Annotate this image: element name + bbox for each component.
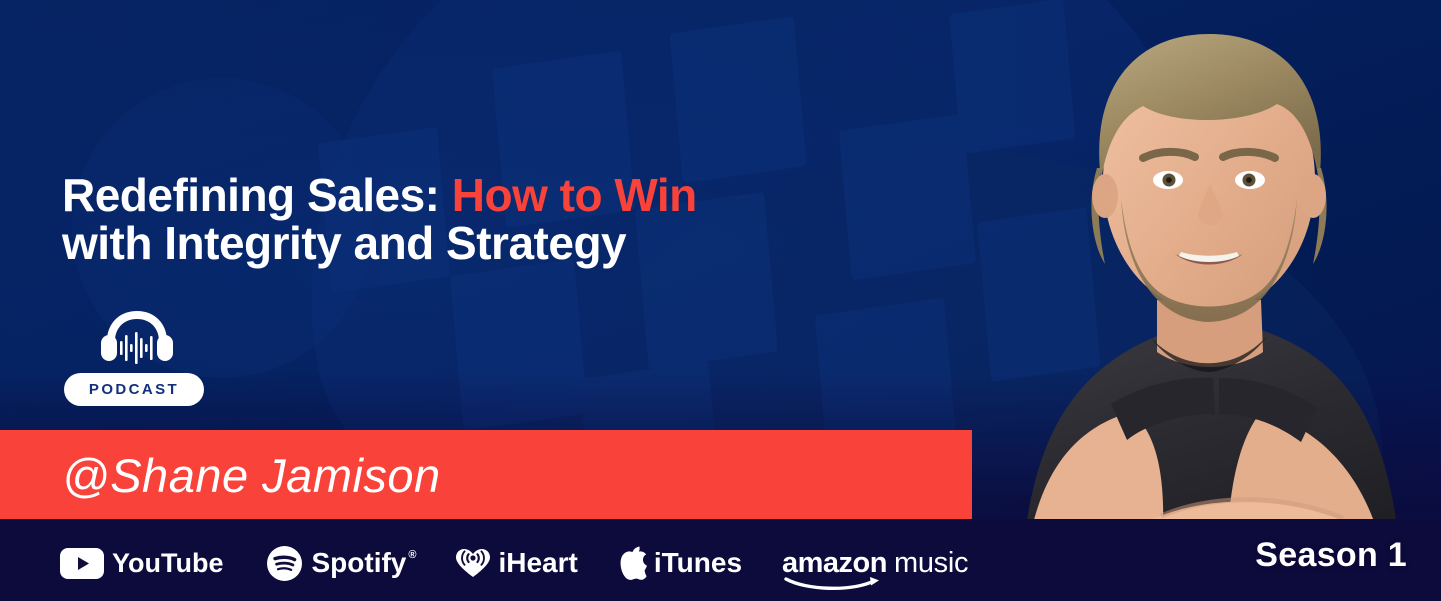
platform-amazon-music[interactable]: amazon music xyxy=(782,540,968,586)
title-line-1: Redefining Sales: How to Win xyxy=(62,172,697,220)
host-photo xyxy=(961,0,1441,601)
platform-iheart[interactable]: iHeart xyxy=(454,540,577,586)
host-handle: @Shane Jamison xyxy=(62,448,441,503)
apple-icon xyxy=(620,546,649,580)
amazon-music-label: music xyxy=(894,547,968,580)
title-line-1-highlight: How to Win xyxy=(452,169,697,221)
podcast-badge: PODCAST xyxy=(64,373,204,406)
podcast-episode-banner: @Shane Jamison Redefining Sales: How to … xyxy=(0,0,1441,601)
platform-itunes[interactable]: iTunes xyxy=(620,540,742,586)
season-label: Season 1 xyxy=(1255,536,1407,575)
spotify-label: Spotify xyxy=(311,547,406,579)
title-line-2: with Integrity and Strategy xyxy=(62,220,697,268)
itunes-label: iTunes xyxy=(654,547,742,579)
episode-title: Redefining Sales: How to Win with Integr… xyxy=(62,172,697,268)
youtube-label: YouTube xyxy=(112,548,223,579)
title-line-1-white: Redefining Sales: xyxy=(62,169,439,221)
podcast-badge-group: PODCAST xyxy=(64,308,204,406)
spotify-icon xyxy=(267,546,302,581)
podcast-badge-label: PODCAST xyxy=(89,381,179,398)
youtube-icon xyxy=(60,548,104,579)
platform-youtube[interactable]: YouTube xyxy=(60,540,223,586)
iheart-icon xyxy=(454,547,492,579)
iheart-label: iHeart xyxy=(498,547,577,579)
headphones-waveform-icon xyxy=(98,308,176,364)
spotify-registered-mark: ® xyxy=(408,549,416,561)
platform-logo-row: YouTube Spotify ® xyxy=(60,540,968,586)
amazon-smile-icon xyxy=(784,575,882,591)
platform-spotify[interactable]: Spotify ® xyxy=(267,540,416,586)
